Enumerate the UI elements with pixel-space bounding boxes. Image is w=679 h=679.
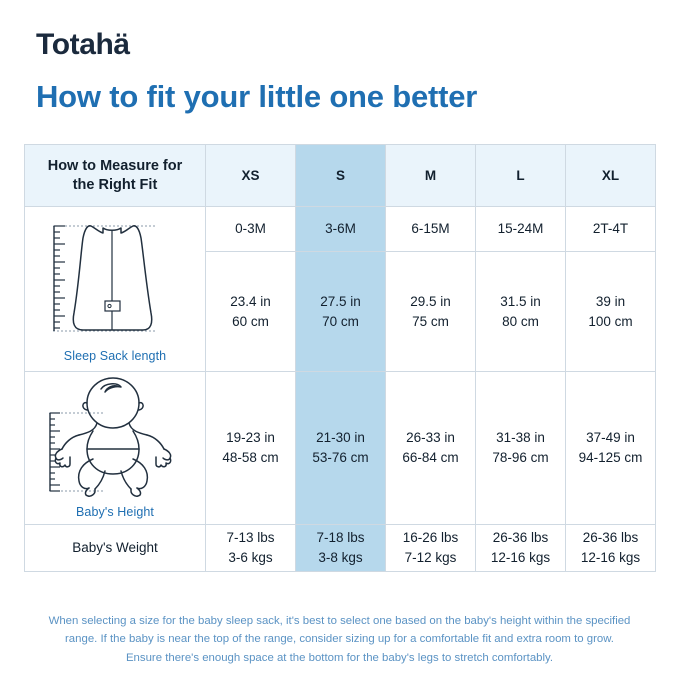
length-value-xl: 39 in 100 cm (566, 252, 656, 372)
sleep-sack-length-label: Sleep Sack length (64, 347, 166, 365)
baby-weight-label: Baby's Weight (25, 525, 206, 572)
size-chart-page: Totahä How to fit your little one better… (0, 0, 679, 679)
height-value-xs: 19-23 in 48-58 cm (206, 372, 296, 525)
weight-value-l: 26-36 lbs 12-16 kgs (476, 525, 566, 572)
size-header-xl[interactable]: XL (566, 145, 656, 207)
weight-value-xs: 7-13 lbs 3-6 kgs (206, 525, 296, 572)
age-value-m: 6-15M (386, 207, 476, 252)
sizing-note-line-3: Ensure there's enough space at the botto… (24, 649, 655, 667)
size-header-s[interactable]: S (296, 145, 386, 207)
age-value-xs: 0-3M (206, 207, 296, 252)
sleep-sack-illustration-cell: Sleep Sack length (25, 207, 206, 372)
length-value-m: 29.5 in 75 cm (386, 252, 476, 372)
age-value-s: 3-6M (296, 207, 386, 252)
baby-illustration (35, 375, 195, 499)
size-header-m[interactable]: M (386, 145, 476, 207)
size-chart-table-wrapper: How to Measure for the Right Fit XS S M … (24, 144, 655, 572)
table-row-age: Sleep Sack length 0-3M 3-6M 6-15M 15-24M… (25, 207, 656, 252)
height-value-m: 26-33 in 66-84 cm (386, 372, 476, 525)
page-title: How to fit your little one better (36, 79, 477, 115)
table-header-row: How to Measure for the Right Fit XS S M … (25, 145, 656, 207)
weight-value-xl: 26-36 lbs 12-16 kgs (566, 525, 656, 572)
brand-logo: Totahä (36, 30, 130, 60)
length-value-l: 31.5 in 80 cm (476, 252, 566, 372)
baby-illustration-cell: Baby's Height (25, 372, 206, 525)
sizing-note-line-1: When selecting a size for the baby sleep… (24, 612, 655, 630)
length-value-xs: 23.4 in 60 cm (206, 252, 296, 372)
label-column-header: How to Measure for the Right Fit (25, 145, 206, 207)
size-header-xs[interactable]: XS (206, 145, 296, 207)
table-row-baby-weight: Baby's Weight 7-13 lbs 3-6 kgs 7-18 lbs … (25, 525, 656, 572)
size-header-l[interactable]: L (476, 145, 566, 207)
height-value-l: 31-38 in 78-96 cm (476, 372, 566, 525)
baby-height-label: Baby's Height (76, 503, 154, 521)
age-value-l: 15-24M (476, 207, 566, 252)
sleep-sack-illustration (39, 213, 191, 343)
sizing-note-line-2: range. If the baby is near the top of th… (24, 630, 655, 648)
height-value-xl: 37-49 in 94-125 cm (566, 372, 656, 525)
age-value-xl: 2T-4T (566, 207, 656, 252)
sizing-note: When selecting a size for the baby sleep… (24, 612, 655, 667)
length-value-s: 27.5 in 70 cm (296, 252, 386, 372)
weight-value-m: 16-26 lbs 7-12 kgs (386, 525, 476, 572)
weight-value-s: 7-18 lbs 3-8 kgs (296, 525, 386, 572)
size-chart-table: How to Measure for the Right Fit XS S M … (24, 144, 656, 572)
table-row-baby-height: Baby's Height 19-23 in 48-58 cm 21-30 in… (25, 372, 656, 525)
height-value-s: 21-30 in 53-76 cm (296, 372, 386, 525)
